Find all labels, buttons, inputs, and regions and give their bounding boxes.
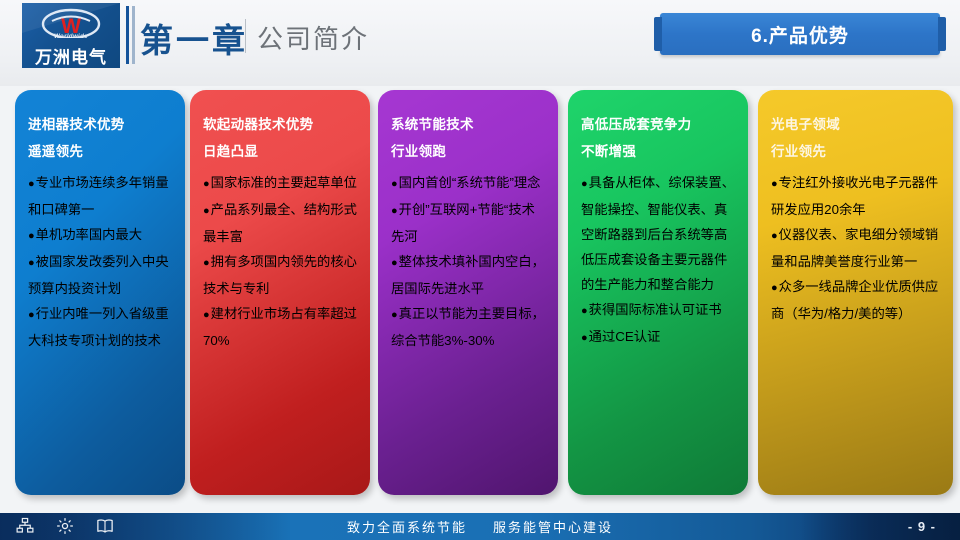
page-subtitle: 公司简介 <box>257 19 369 56</box>
list-item: 国内首创“系统节能”理念 <box>391 170 545 197</box>
list-item: 产品系列最全、结构形式最丰富 <box>203 197 357 249</box>
card-heading-line1: 高低压成套竞争力 <box>581 112 735 137</box>
card-bullet-list: 具备从柜体、综保装置、智能操控、智能仪表、真空断路器到后台系统等高低压成套设备主… <box>581 170 735 351</box>
card-bullet-list: 国内首创“系统节能”理念 开创”互联网+节能“技术先河 整体技术填补国内空白，居… <box>391 170 545 353</box>
logo-subtext: Worldwide <box>22 34 120 40</box>
card-xitongjieneng[interactable]: 系统节能技术 行业领跑 国内首创“系统节能”理念 开创”互联网+节能“技术先河 … <box>378 90 558 495</box>
card-heading-line2: 不断增强 <box>581 139 735 164</box>
card-bullet-list: 专业市场连续多年销量和口碑第一 单机功率国内最大 被国家发改委列入中央预算内投资… <box>28 170 172 353</box>
card-bullet-list: 专注红外接收光电子元器件研发应用20余年 仪器仪表、家电细分领域销量和品牌美誉度… <box>771 170 940 326</box>
card-ruanqidongqi[interactable]: 软起动器技术优势 日趋凸显 国家标准的主要起草单位 产品系列最全、结构形式最丰富… <box>190 90 370 495</box>
list-item: 专业市场连续多年销量和口碑第一 <box>28 170 172 222</box>
card-bullet-list: 国家标准的主要起草单位 产品系列最全、结构形式最丰富 拥有多项国内领先的核心技术… <box>203 170 357 353</box>
list-item: 仪器仪表、家电细分领域销量和品牌美誉度行业第一 <box>771 222 940 274</box>
card-heading-line1: 光电子领域 <box>771 112 940 137</box>
accent-bar-primary <box>126 6 129 64</box>
card-guangdianzi[interactable]: 光电子领域 行业领先 专注红外接收光电子元器件研发应用20余年 仪器仪表、家电细… <box>758 90 953 495</box>
card-heading-line2: 行业领跑 <box>391 139 545 164</box>
section-badge: 6.产品优势 <box>660 13 940 55</box>
list-item: 真正以节能为主要目标，综合节能3%-30% <box>391 301 545 353</box>
card-heading-line1: 进相器技术优势 <box>28 112 172 137</box>
list-item: 国家标准的主要起草单位 <box>203 170 357 197</box>
list-item: 行业内唯一列入省级重大科技专项计划的技术 <box>28 301 172 353</box>
list-item: 通过CE认证 <box>581 324 735 351</box>
title-divider <box>245 19 246 53</box>
list-item: 建材行业市场占有率超过70% <box>203 301 357 353</box>
accent-bar-secondary <box>132 6 135 64</box>
list-item: 众多一线品牌企业优质供应商（华为/格力/美的等） <box>771 274 940 326</box>
card-jinxiangqi[interactable]: 进相器技术优势 遥遥领先 专业市场连续多年销量和口碑第一 单机功率国内最大 被国… <box>15 90 185 495</box>
list-item: 被国家发改委列入中央预算内投资计划 <box>28 249 172 301</box>
footer-slogan: 致力全面系统节能 服务能管中心建设 <box>0 513 960 540</box>
card-gaodiyachengtao[interactable]: 高低压成套竞争力 不断增强 具备从柜体、综保装置、智能操控、智能仪表、真空断路器… <box>568 90 748 495</box>
list-item: 具备从柜体、综保装置、智能操控、智能仪表、真空断路器到后台系统等高低压成套设备主… <box>581 170 735 297</box>
list-item: 开创”互联网+节能“技术先河 <box>391 197 545 249</box>
card-heading-line2: 遥遥领先 <box>28 139 172 164</box>
list-item: 拥有多项国内领先的核心技术与专利 <box>203 249 357 301</box>
list-item: 单机功率国内最大 <box>28 222 172 249</box>
page-footer: 致力全面系统节能 服务能管中心建设 - 9 - <box>0 513 960 540</box>
page-number: - 9 - <box>908 513 936 540</box>
page-header: W Worldwide 万洲电气 第一章 公司简介 6.产品优势 <box>0 0 960 86</box>
list-item: 专注红外接收光电子元器件研发应用20余年 <box>771 170 940 222</box>
chapter-title: 第一章 <box>140 14 248 62</box>
company-logo: W Worldwide 万洲电气 <box>22 3 120 68</box>
list-item: 整体技术填补国内空白，居国际先进水平 <box>391 249 545 301</box>
footer-slogan-left: 致力全面系统节能 <box>347 517 467 536</box>
footer-slogan-right: 服务能管中心建设 <box>493 517 613 536</box>
card-heading-line1: 软起动器技术优势 <box>203 112 357 137</box>
card-heading-line1: 系统节能技术 <box>391 112 545 137</box>
card-heading-line2: 日趋凸显 <box>203 139 357 164</box>
list-item: 获得国际标准认可证书 <box>581 297 735 324</box>
advantage-cards: 进相器技术优势 遥遥领先 专业市场连续多年销量和口碑第一 单机功率国内最大 被国… <box>0 90 960 505</box>
logo-company-name: 万洲电气 <box>22 43 120 68</box>
card-heading-line2: 行业领先 <box>771 139 940 164</box>
